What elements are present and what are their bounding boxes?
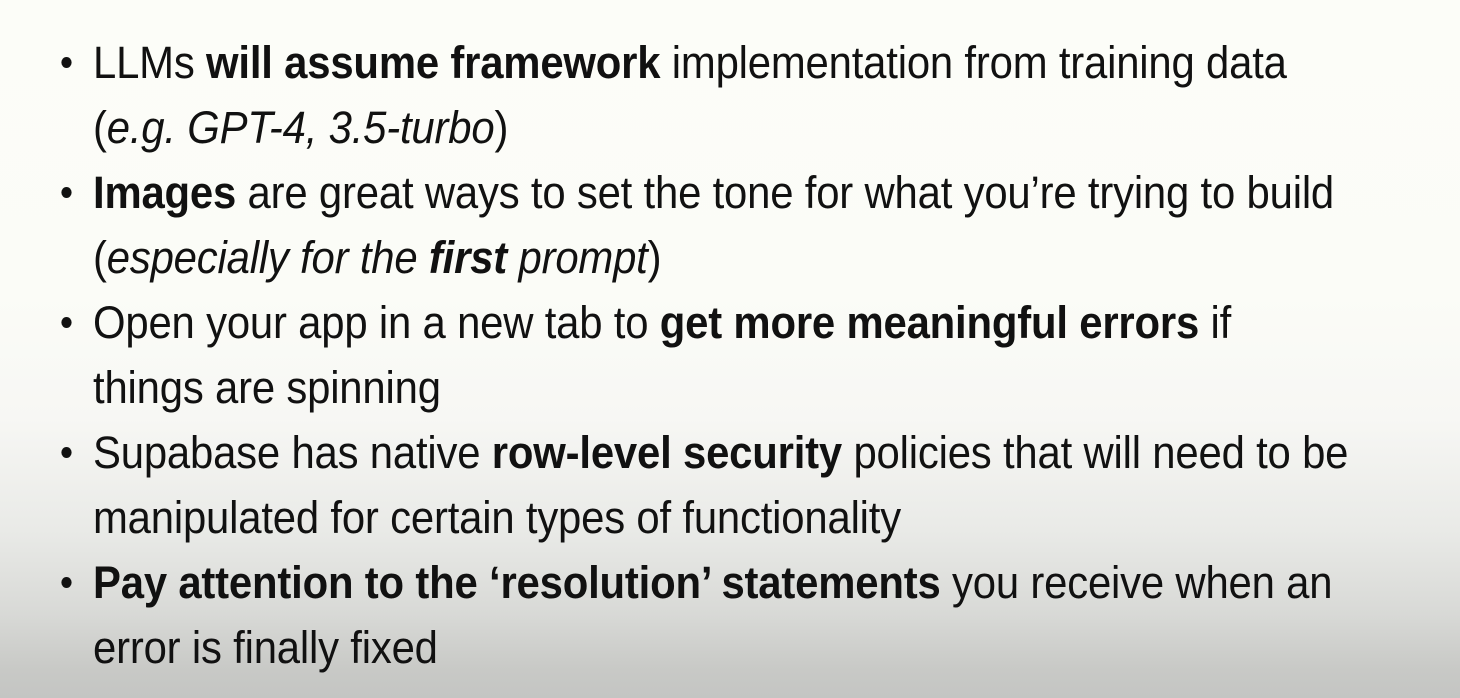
text-run: e.g. GPT-4, 3.5-turbo: [107, 102, 495, 153]
text-run: first: [429, 232, 507, 283]
list-item: Images are great ways to set the tone fo…: [0, 160, 1358, 290]
bullet-dot-icon: [61, 447, 71, 458]
list-item-text: Pay attention to the ‘resolution’ statem…: [93, 550, 1349, 680]
list-item: Open your app in a new tab to get more m…: [0, 290, 1358, 420]
bullet-dot-icon: [61, 57, 71, 68]
bullet-dot-icon: [61, 317, 71, 328]
bullet-dot-icon: [61, 187, 71, 198]
text-run: prompt: [507, 232, 648, 283]
text-run: will assume framework: [206, 37, 660, 88]
slide-canvas: LLMs will assume framework implementatio…: [0, 0, 1460, 698]
list-item: Pay attention to the ‘resolution’ statem…: [0, 550, 1358, 680]
bullet-dot-icon: [61, 577, 71, 588]
list-item-text: Images are great ways to set the tone fo…: [93, 160, 1349, 290]
text-run: LLMs: [93, 37, 206, 88]
text-run: especially for the: [107, 232, 429, 283]
text-run: ): [494, 102, 508, 153]
text-run: Images: [93, 167, 236, 218]
list-item: Supabase has native row-level security p…: [0, 420, 1358, 550]
text-run: Pay attention to the ‘resolution’ statem…: [93, 557, 941, 608]
text-run: ): [648, 232, 662, 283]
text-run: row-level security: [492, 427, 842, 478]
list-item-text: Supabase has native row-level security p…: [93, 420, 1349, 550]
list-item: LLMs will assume framework implementatio…: [0, 30, 1358, 160]
text-run: get more meaningful errors: [660, 297, 1199, 348]
bullet-list: LLMs will assume framework implementatio…: [0, 30, 1460, 680]
text-run: Supabase has native: [93, 427, 492, 478]
list-item-text: Open your app in a new tab to get more m…: [93, 290, 1349, 420]
list-item-text: LLMs will assume framework implementatio…: [93, 30, 1349, 160]
text-run: Open your app in a new tab to: [93, 297, 660, 348]
